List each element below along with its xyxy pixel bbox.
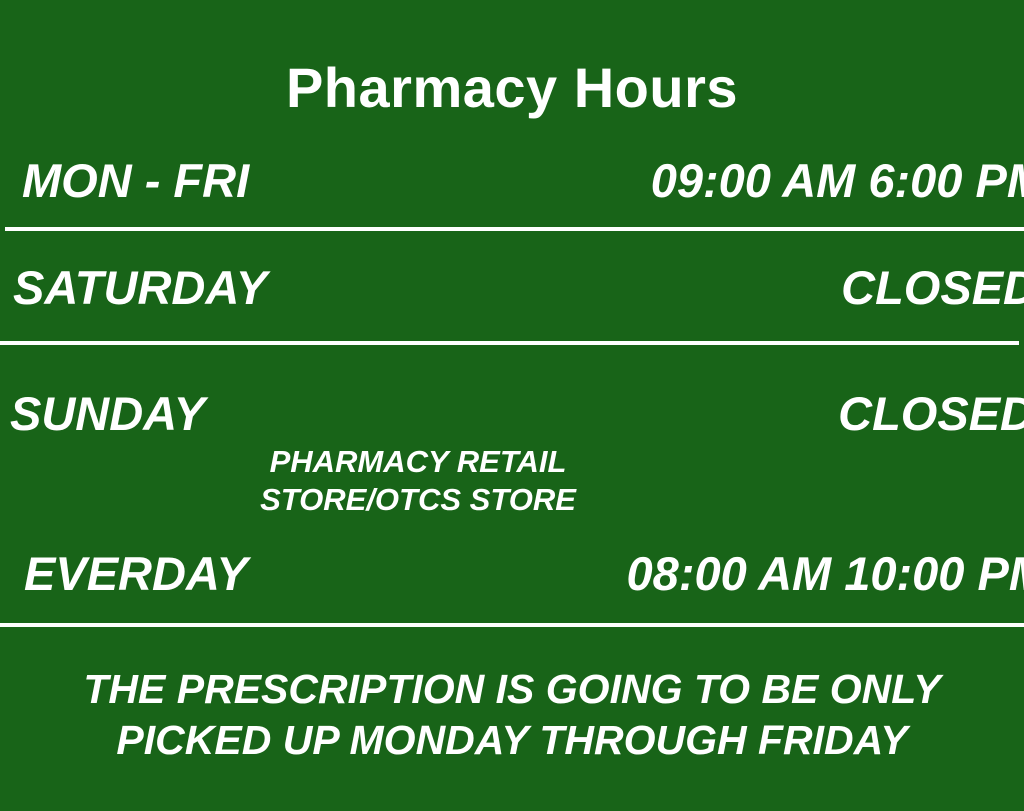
hours-row-everyday: EVERDAY 08:00 AM 10:00 PM <box>0 545 1024 603</box>
hours-row-label: EVERDAY <box>24 545 248 603</box>
page-title: Pharmacy Hours <box>0 56 1024 120</box>
divider-rule <box>0 623 1024 627</box>
pharmacy-hours-sign: Pharmacy Hours MON - FRI 09:00 AM 6:00 P… <box>0 0 1024 811</box>
hours-row-label: SUNDAY <box>10 385 205 443</box>
prescription-notice-line-2: PICKED UP MONDAY THROUGH FRIDAY <box>0 715 1024 766</box>
hours-row-label: MON - FRI <box>22 152 249 210</box>
hours-row-mon-fri: MON - FRI 09:00 AM 6:00 PM <box>0 152 1024 210</box>
hours-row-sunday: SUNDAY CLOSED <box>0 385 1024 443</box>
hours-row-value: CLOSED <box>838 385 1024 443</box>
prescription-notice: THE PRESCRIPTION IS GOING TO BE ONLY PIC… <box>0 664 1024 766</box>
hours-row-value: 09:00 AM 6:00 PM <box>651 152 1024 210</box>
divider-rule <box>0 341 1019 345</box>
retail-store-caption: PHARMACY RETAIL STORE/OTCS STORE <box>178 443 658 519</box>
hours-row-value: CLOSED <box>841 259 1024 317</box>
hours-row-value: 08:00 AM 10:00 PM <box>627 545 1024 603</box>
retail-store-caption-line-1: PHARMACY RETAIL <box>178 443 658 481</box>
hours-row-label: SATURDAY <box>13 259 267 317</box>
prescription-notice-line-1: THE PRESCRIPTION IS GOING TO BE ONLY <box>0 664 1024 715</box>
hours-row-saturday: SATURDAY CLOSED <box>0 259 1024 317</box>
retail-store-caption-line-2: STORE/OTCS STORE <box>178 481 658 519</box>
divider-rule <box>5 227 1024 231</box>
